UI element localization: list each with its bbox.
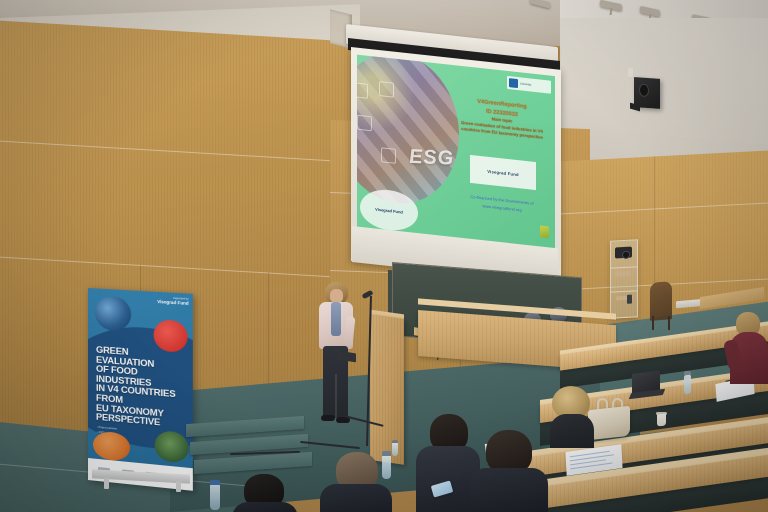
wall-seam — [0, 256, 370, 280]
slide-heading: V4GreenReporting ID 22320032 Main topic … — [453, 95, 551, 142]
slide-university-logo: University — [507, 76, 551, 94]
water-bottle — [382, 455, 391, 479]
case-shelf — [611, 266, 637, 268]
attendee — [232, 474, 298, 512]
presenter-arm — [343, 316, 355, 347]
slide-fund-label: Visegrad Fund — [487, 168, 519, 176]
coffee-cup — [657, 414, 666, 427]
presenter-leg-split — [335, 374, 337, 418]
chair-leg — [668, 316, 670, 330]
presenter-scarf — [331, 302, 341, 336]
antique-chair — [650, 281, 672, 321]
attendee — [730, 312, 768, 384]
laptop[interactable] — [630, 370, 664, 399]
leaf-icon — [357, 82, 368, 99]
banner-title: GREEN EVALUATION OF FOOD INDUSTRIES IN V… — [96, 345, 190, 430]
speaker-driver-icon — [639, 83, 649, 97]
presentation-slide: ESG Visegrad Fund University V4GreenRepo… — [357, 55, 555, 254]
camera-icon — [615, 247, 632, 259]
tote-bag — [588, 406, 630, 440]
attendee — [550, 386, 594, 446]
wall-socket — [628, 68, 633, 77]
banner-foot — [104, 478, 109, 489]
step — [186, 416, 304, 437]
chair-leg — [652, 316, 654, 330]
bank-icon — [379, 81, 394, 98]
banner-foot — [176, 481, 181, 492]
wall-white-right — [560, 18, 768, 168]
water-bottle — [210, 484, 220, 510]
banner-sponsor-logo: supported by Visegrad Fund — [135, 295, 189, 313]
water-bottle — [392, 440, 398, 456]
camera-lens-icon — [622, 251, 630, 259]
slide-photo-circle — [357, 55, 459, 210]
lecture-hall-photo: ESG Visegrad Fund University V4GreenRepo… — [0, 0, 768, 512]
slide-footer: Co-financed by the Governments of www.vi… — [453, 191, 551, 217]
attendee-torso — [550, 414, 594, 448]
presenter-face — [330, 289, 343, 303]
banner-globe-image — [95, 295, 131, 331]
case-shelf — [611, 290, 637, 292]
attendee-suit — [232, 502, 298, 512]
attendee — [470, 430, 548, 512]
recycle-icon — [357, 115, 372, 132]
slide-logo-text: University — [520, 82, 531, 86]
case-exhibit — [627, 295, 632, 304]
slide-esg-label: ESG — [408, 146, 455, 171]
banner-sponsor-name: Visegrad Fund — [157, 299, 188, 307]
rollup-banner: supported by Visegrad Fund GREEN EVALUAT… — [88, 288, 193, 491]
lectern — [370, 314, 404, 465]
water-bottle — [684, 375, 691, 395]
wall-seam — [0, 140, 370, 164]
logo-mark-icon — [509, 78, 518, 88]
slide-visegrad-fund-logo: Visegrad Fund — [470, 155, 536, 190]
bottle-cap — [382, 451, 391, 456]
wall-seam — [556, 202, 768, 215]
attendee-suit — [320, 484, 392, 512]
presenter-shoe — [321, 415, 335, 421]
case-exhibit — [615, 271, 630, 277]
attendee-suit — [470, 468, 548, 512]
step — [194, 452, 312, 474]
bottle-cap — [210, 480, 220, 485]
people-icon — [381, 147, 396, 164]
display-case — [610, 239, 638, 318]
exit-sign-icon — [540, 225, 549, 238]
